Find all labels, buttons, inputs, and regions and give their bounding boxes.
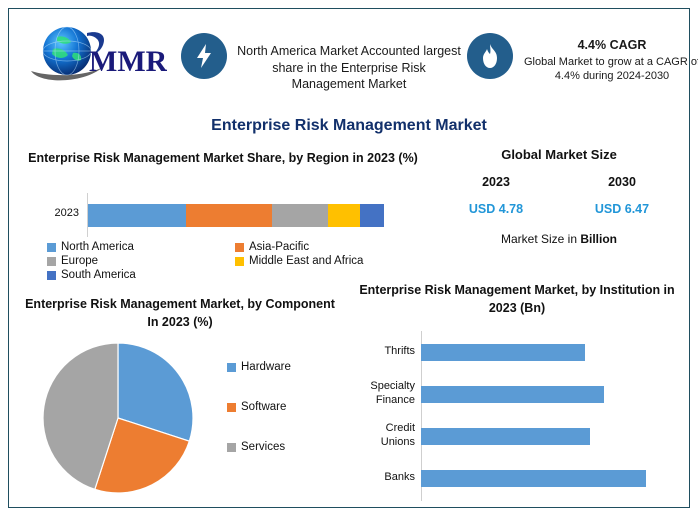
market-size-column-2030: 2030 USD 6.47 <box>559 175 685 216</box>
legend-item-asia-pacific: Asia-Pacific <box>235 241 423 253</box>
cagr-description: Global Market to grow at a CAGR of 4.4% … <box>524 56 698 83</box>
globe-swoosh-icon: MMR <box>27 23 167 85</box>
institution-label: Banks <box>349 471 421 485</box>
legend-label: Asia-Pacific <box>249 241 309 253</box>
header-item-2-text: 4.4% CAGR Global Market to grow at a CAG… <box>519 37 698 84</box>
institution-plot-area: Thrifts Specialty Finance Credit Unions … <box>349 331 685 501</box>
institution-row-specialty-finance: Specialty Finance <box>349 373 685 415</box>
institution-row-thrifts: Thrifts <box>349 331 685 373</box>
region-segment-middle-east-africa <box>328 204 361 227</box>
mmr-logo: MMR <box>27 23 167 89</box>
header-bar: MMR North America Market Accounted large… <box>19 13 679 99</box>
institution-chart-title: Enterprise Risk Management Market, by In… <box>349 281 685 317</box>
region-stacked-bar <box>88 204 384 227</box>
legend-label: Europe <box>61 255 98 267</box>
market-size-column-2023: 2023 USD 4.78 <box>433 175 559 216</box>
region-segment-north-america <box>88 204 186 227</box>
market-size-unit-prefix: Market Size in <box>501 232 580 246</box>
region-plot-area: 2023 <box>23 193 423 237</box>
legend-label: Hardware <box>241 361 291 373</box>
market-size-value-2030: USD 6.47 <box>559 202 685 216</box>
component-share-chart: Enterprise Risk Management Market, by Co… <box>19 295 349 515</box>
institution-row-credit-unions: Credit Unions <box>349 415 685 457</box>
component-chart-title: Enterprise Risk Management Market, by Co… <box>25 295 335 331</box>
legend-swatch-icon <box>47 271 56 280</box>
legend-swatch-icon <box>235 243 244 252</box>
market-size-unit-note: Market Size in Billion <box>433 232 685 246</box>
legend-swatch-icon <box>227 363 236 372</box>
region-share-chart: Enterprise Risk Management Market Share,… <box>23 149 423 289</box>
institution-label: Specialty Finance <box>349 380 421 408</box>
legend-label: Middle East and Africa <box>249 255 363 267</box>
infographic-root: MMR North America Market Accounted large… <box>0 0 698 520</box>
institution-chart: Enterprise Risk Management Market, by In… <box>349 281 689 511</box>
legend-label: Services <box>241 441 285 453</box>
legend-item-hardware: Hardware <box>227 361 345 373</box>
institution-bar-banks <box>421 470 646 487</box>
region-segment-asia-pacific <box>186 204 272 227</box>
global-market-size-values: 2023 USD 4.78 2030 USD 6.47 <box>433 175 685 216</box>
legend-item-software: Software <box>227 401 345 413</box>
institution-bar-credit-unions <box>421 428 590 445</box>
market-size-year-2030: 2030 <box>559 175 685 189</box>
flame-icon <box>467 33 513 79</box>
legend-item-south-america: South America <box>47 269 235 281</box>
market-size-unit: Billion <box>580 232 617 246</box>
institution-row-banks: Banks <box>349 457 685 499</box>
institution-bar-specialty-finance <box>421 386 604 403</box>
legend-item-north-america: North America <box>47 241 235 253</box>
component-legend: Hardware Software Services <box>227 361 345 481</box>
region-segment-europe <box>272 204 328 227</box>
legend-item-europe: Europe <box>47 255 235 267</box>
institution-label: Thrifts <box>349 345 421 359</box>
market-size-value-2023: USD 4.78 <box>433 202 559 216</box>
institution-label: Credit Unions <box>349 422 421 450</box>
region-category-label: 2023 <box>31 207 79 219</box>
legend-label: North America <box>61 241 134 253</box>
legend-swatch-icon <box>235 257 244 266</box>
page-title: Enterprise Risk Management Market <box>9 117 689 135</box>
infographic-frame: MMR North America Market Accounted large… <box>8 8 690 508</box>
region-segment-south-america <box>360 204 384 227</box>
legend-swatch-icon <box>47 243 56 252</box>
legend-item-services: Services <box>227 441 345 453</box>
pie-svg <box>43 343 193 493</box>
region-legend: North America Asia-Pacific Europe Middle… <box>47 241 423 283</box>
institution-bar-thrifts <box>421 344 585 361</box>
header-item-1-text: North America Market Accounted largest s… <box>235 43 463 93</box>
cagr-value: 4.4% CAGR <box>519 37 698 54</box>
component-pie <box>43 343 193 498</box>
legend-label: Software <box>241 401 286 413</box>
legend-label: South America <box>61 269 136 281</box>
legend-item-middle-east-africa: Middle East and Africa <box>235 255 423 267</box>
lightning-bolt-icon <box>181 33 227 79</box>
global-market-size-title: Global Market Size <box>433 147 685 162</box>
legend-swatch-icon <box>227 403 236 412</box>
logo-text: MMR <box>89 45 167 78</box>
legend-swatch-icon <box>47 257 56 266</box>
global-market-size-panel: Global Market Size 2023 USD 4.78 2030 US… <box>433 147 685 267</box>
market-size-year-2023: 2023 <box>433 175 559 189</box>
region-chart-title: Enterprise Risk Management Market Share,… <box>23 149 423 167</box>
legend-swatch-icon <box>227 443 236 452</box>
